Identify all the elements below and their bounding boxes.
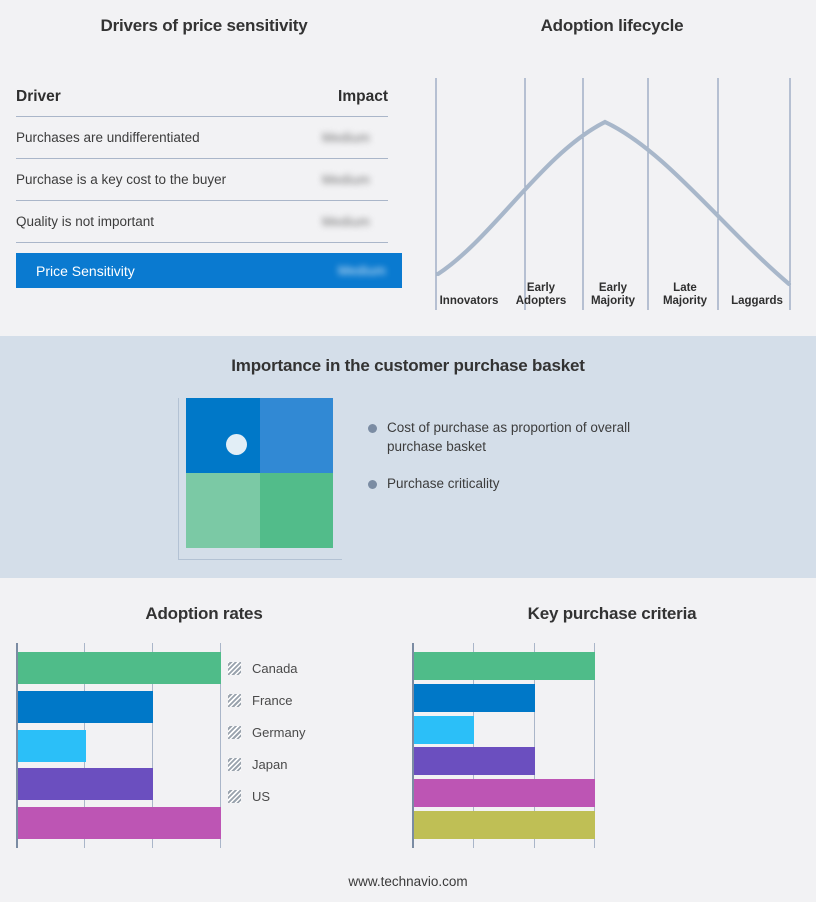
summary-label: Price Sensitivity [36,263,135,279]
adoption-rates-chart [16,643,221,848]
legend-label: France [252,693,292,708]
segment-line-2: Laggards [721,295,793,308]
segment-line-1: Early [577,282,649,295]
purchase-basket-panel: Importance in the customer purchase bask… [0,336,816,578]
quadrant-cell-top-left [186,398,260,473]
plot-area [412,643,595,848]
bar-germany [18,730,86,762]
segment-line-2: Majority [577,295,649,308]
driver-label: Purchases are undifferentiated [16,130,200,145]
adoption-rates-panel: Adoption rates [0,578,408,902]
bar-group [18,652,221,839]
footer-url[interactable]: www.technavio.com [0,874,816,889]
key-purchase-criteria-chart [412,643,595,848]
driver-label: Quality is not important [16,214,154,229]
table-row: Purchases are undifferentiated Medium [16,117,388,159]
bar-row [414,652,595,680]
hatched-swatch-icon [228,662,241,675]
quadrant-matrix [178,398,342,560]
top-section: Drivers of price sensitivity Driver Impa… [0,0,816,336]
key-purchase-criteria-panel: Key purchase criteria [408,578,816,902]
purchase-basket-title: Importance in the customer purchase bask… [0,356,816,376]
drivers-table: Driver Impact Purchases are undifferenti… [16,88,388,288]
bar-regulatory-compliance [414,779,595,807]
lifecycle-segment-early-majority: Early Majority [577,262,649,310]
bar-us [18,807,221,839]
plot-area [16,643,221,848]
legend-item: Germany [228,716,305,748]
lifecycle-segment-innovators: Innovators [433,262,505,310]
bar-group [414,652,595,839]
price-sensitivity-summary-row: Price Sensitivity Medium [16,253,402,288]
hatched-swatch-icon [228,758,241,771]
quadrant-cell-top-right [260,398,334,473]
bar-row [414,716,595,744]
bar-row [18,652,221,684]
bar-japan [18,768,153,800]
bullet-icon [368,424,377,433]
adoption-bell-curve [438,122,789,284]
lifecycle-segment-labels: Innovators Early Adopters Early Majority… [433,262,793,310]
legend-label: Purchase criticality [387,474,500,493]
table-row: Quality is not important Medium [16,201,388,243]
lifecycle-segment-early-adopters: Early Adopters [505,262,577,310]
table-row: Purchase is a key cost to the buyer Medi… [16,159,388,201]
quadrant-cell-bottom-right [260,473,334,548]
legend-item: Purchase criticality [368,474,668,493]
bar-quality [414,716,474,744]
segment-line-2: Adopters [505,295,577,308]
legend-label: Japan [252,757,287,772]
bar-relatability [414,747,535,775]
column-header-impact: Impact [338,88,388,106]
lifecycle-title: Adoption lifecycle [408,16,816,36]
bar-price [414,684,535,712]
bar-row [414,779,595,807]
column-header-driver: Driver [16,88,61,106]
adoption-rates-legend: Canada France Germany Japan US [228,643,305,812]
legend-item: US [228,780,305,812]
summary-impact-value: Medium [338,263,386,278]
legend-item: France [228,684,305,716]
hatched-swatch-icon [228,726,241,739]
bar-row [414,684,595,712]
legend-label: Cost of purchase as proportion of overal… [387,418,652,456]
legend-label: US [252,789,270,804]
segment-line-2: Majority [649,295,721,308]
legend-label: Canada [252,661,298,676]
quadrant-cell-bottom-left [186,473,260,548]
purchase-basket-legend: Cost of purchase as proportion of overal… [368,418,668,511]
driver-label: Purchase is a key cost to the buyer [16,172,226,187]
legend-item: Japan [228,748,305,780]
bullet-icon [368,480,377,489]
impact-value: Medium [322,172,388,187]
bar-canada [18,652,221,684]
segment-line-1: Late [649,282,721,295]
bar-service [414,811,595,839]
bar-france [18,691,153,723]
position-marker-dot [226,434,247,455]
quadrant-cells [186,398,333,548]
lifecycle-panel: Adoption lifecycle Innovators [408,0,816,336]
legend-item: Cost of purchase as proportion of overal… [368,418,668,456]
bar-row [18,768,221,800]
segment-line-2: Innovators [433,295,505,308]
hatched-swatch-icon [228,694,241,707]
bar-row [18,807,221,839]
drivers-title: Drivers of price sensitivity [0,16,408,36]
segment-line-1: Early [505,282,577,295]
bar-innovation [414,652,595,680]
impact-value: Medium [322,214,388,229]
bottom-section: Adoption rates [0,578,816,902]
bar-row [414,811,595,839]
adoption-rates-title: Adoption rates [0,604,408,624]
drivers-panel: Drivers of price sensitivity Driver Impa… [0,0,408,336]
legend-item: Canada [228,652,305,684]
bar-row [414,747,595,775]
key-purchase-criteria-title: Key purchase criteria [408,604,816,624]
lifecycle-segment-laggards: Laggards [721,262,793,310]
lifecycle-segment-late-majority: Late Majority [649,262,721,310]
bar-row [18,730,221,762]
legend-label: Germany [252,725,305,740]
drivers-table-header: Driver Impact [16,88,388,117]
hatched-swatch-icon [228,790,241,803]
impact-value: Medium [322,130,388,145]
bar-row [18,691,221,723]
